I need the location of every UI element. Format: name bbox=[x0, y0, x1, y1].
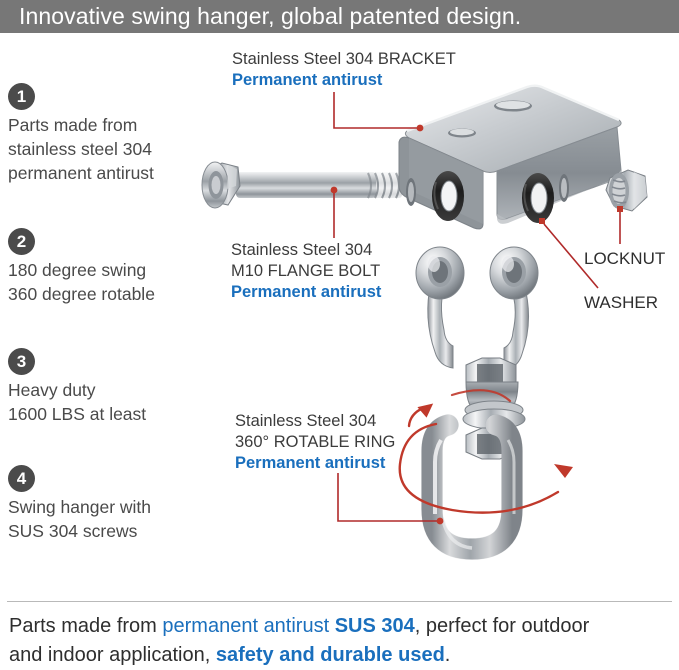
footer-part-3: SUS 304 bbox=[335, 615, 415, 637]
leader-bracket bbox=[334, 92, 417, 128]
swivel-ring-image bbox=[416, 247, 538, 549]
feature-line: SUS 304 screws bbox=[8, 519, 208, 543]
feature-item-1: 1 Parts made from stainless steel 304 pe… bbox=[8, 83, 208, 185]
callout-bracket-line2: Permanent antirust bbox=[232, 70, 456, 91]
callout-bracket-line1: Stainless Steel 304 BRACKET bbox=[232, 49, 456, 70]
feature-badge-3: 3 bbox=[8, 348, 35, 375]
footer-line-2: and indoor application, safety and durab… bbox=[9, 641, 674, 670]
feature-item-2: 2 180 degree swing 360 degree rotable bbox=[8, 228, 208, 306]
feature-text-1: Parts made from stainless steel 304 perm… bbox=[8, 113, 208, 185]
feature-line: 360 degree rotable bbox=[8, 282, 208, 306]
callout-ring-line3: Permanent antirust bbox=[235, 453, 395, 474]
footer-divider bbox=[7, 601, 672, 602]
feature-badge-1: 1 bbox=[8, 83, 35, 110]
footer-part-2: permanent antirust bbox=[162, 615, 334, 637]
feature-text-2: 180 degree swing 360 degree rotable bbox=[8, 258, 208, 306]
callout-bracket: Stainless Steel 304 BRACKET Permanent an… bbox=[232, 49, 456, 91]
feature-line: Heavy duty bbox=[8, 378, 208, 402]
callout-ring-line1: Stainless Steel 304 bbox=[235, 411, 395, 432]
feature-line: permanent antirust bbox=[8, 161, 208, 185]
feature-text-4: Swing hanger with SUS 304 screws bbox=[8, 495, 208, 543]
steel-bracket-image bbox=[399, 86, 621, 229]
feature-line: stainless steel 304 bbox=[8, 137, 208, 161]
callout-flange-bolt: Stainless Steel 304 M10 FLANGE BOLT Perm… bbox=[231, 240, 381, 303]
footer-part-6: safety and durable used bbox=[216, 644, 445, 666]
footer-part-4: , perfect for outdoor bbox=[415, 615, 590, 637]
footer-line-1: Parts made from permanent antirust SUS 3… bbox=[9, 612, 674, 641]
washer-image bbox=[522, 173, 554, 223]
feature-line: 180 degree swing bbox=[8, 258, 208, 282]
callout-ring-line2: 360° ROTABLE RING bbox=[235, 432, 395, 453]
washer-image bbox=[432, 171, 464, 221]
footer-part-7: . bbox=[445, 644, 451, 666]
footer-text: Parts made from permanent antirust SUS 3… bbox=[9, 612, 674, 670]
callout-locknut-label: LOCKNUT bbox=[584, 248, 665, 269]
feature-badge-4: 4 bbox=[8, 465, 35, 492]
callout-bolt-line1: Stainless Steel 304 bbox=[231, 240, 381, 261]
feature-line: Swing hanger with bbox=[8, 495, 208, 519]
callout-washer: WASHER bbox=[584, 292, 658, 313]
callout-washer-label: WASHER bbox=[584, 292, 658, 313]
feature-line: Parts made from bbox=[8, 113, 208, 137]
footer-part-5: and indoor application, bbox=[9, 644, 216, 666]
feature-item-4: 4 Swing hanger with SUS 304 screws bbox=[8, 465, 208, 543]
infographic-page: Innovative swing hanger, global patented… bbox=[0, 0, 679, 670]
footer-part-1: Parts made from bbox=[9, 615, 162, 637]
feature-item-3: 3 Heavy duty 1600 LBS at least bbox=[8, 348, 208, 426]
callout-bolt-line2: M10 FLANGE BOLT bbox=[231, 261, 381, 282]
callout-rotable-ring: Stainless Steel 304 360° ROTABLE RING Pe… bbox=[235, 411, 395, 474]
callout-locknut: LOCKNUT bbox=[584, 248, 665, 269]
callout-bolt-line3: Permanent antirust bbox=[231, 282, 381, 303]
feature-line: 1600 LBS at least bbox=[8, 402, 208, 426]
feature-badge-2: 2 bbox=[8, 228, 35, 255]
feature-text-3: Heavy duty 1600 LBS at least bbox=[8, 378, 208, 426]
flange-bolt-image bbox=[202, 162, 402, 208]
